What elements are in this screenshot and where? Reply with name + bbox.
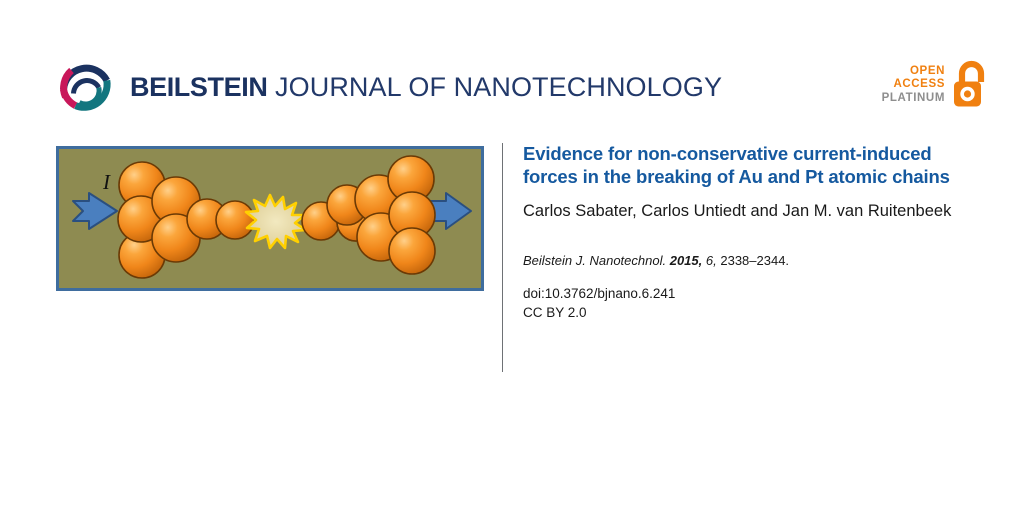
article-title[interactable]: Evidence for non-conservative current-in… <box>523 143 953 188</box>
citation-pages: 2338–2344. <box>720 253 789 268</box>
atom <box>216 201 254 239</box>
citation-volume: 6, <box>706 253 717 268</box>
doi-link[interactable]: doi:10.3762/bjnano.6.241 <box>523 284 953 303</box>
article-citation: Beilstein J. Nanotechnol. 2015, 6, 2338–… <box>523 252 953 270</box>
beilstein-swirl-logo-icon <box>54 53 116 115</box>
citation-year: 2015, <box>670 253 703 268</box>
license-label[interactable]: CC BY 2.0 <box>523 303 953 322</box>
wordmark-journal-of-nanotechnology: JOURNAL OF NANOTECHNOLOGY <box>267 72 722 102</box>
open-access-unlocked-padlock-icon <box>951 60 989 110</box>
open-access-platinum-badge: OPEN ACCESS PLATINUM <box>882 58 989 112</box>
chain-break-starburst-icon <box>246 195 306 248</box>
open-access-line-access: ACCESS <box>882 78 945 92</box>
citation-journal: Beilstein J. Nanotechnol. <box>523 253 666 268</box>
page-header: BEILSTEIN JOURNAL OF NANOTECHNOLOGY OPEN… <box>0 0 1024 130</box>
article-authors: Carlos Sabater, Carlos Untiedt and Jan M… <box>523 200 953 222</box>
vertical-divider <box>502 143 503 372</box>
article-info-panel: Evidence for non-conservative current-in… <box>523 143 953 322</box>
open-access-line-open: OPEN <box>882 65 945 79</box>
graphical-abstract-figure: I <box>56 146 484 291</box>
journal-wordmark: BEILSTEIN JOURNAL OF NANOTECHNOLOGY <box>130 70 722 104</box>
open-access-label-group: OPEN ACCESS PLATINUM <box>882 65 951 106</box>
open-access-line-platinum: PLATINUM <box>882 92 945 106</box>
atom <box>389 228 435 274</box>
wordmark-beilstein: BEILSTEIN <box>130 72 267 102</box>
current-label-I: I <box>102 170 111 194</box>
doi-and-license-block: doi:10.3762/bjnano.6.241 CC BY 2.0 <box>523 284 953 322</box>
left-chain-atoms <box>216 201 254 239</box>
